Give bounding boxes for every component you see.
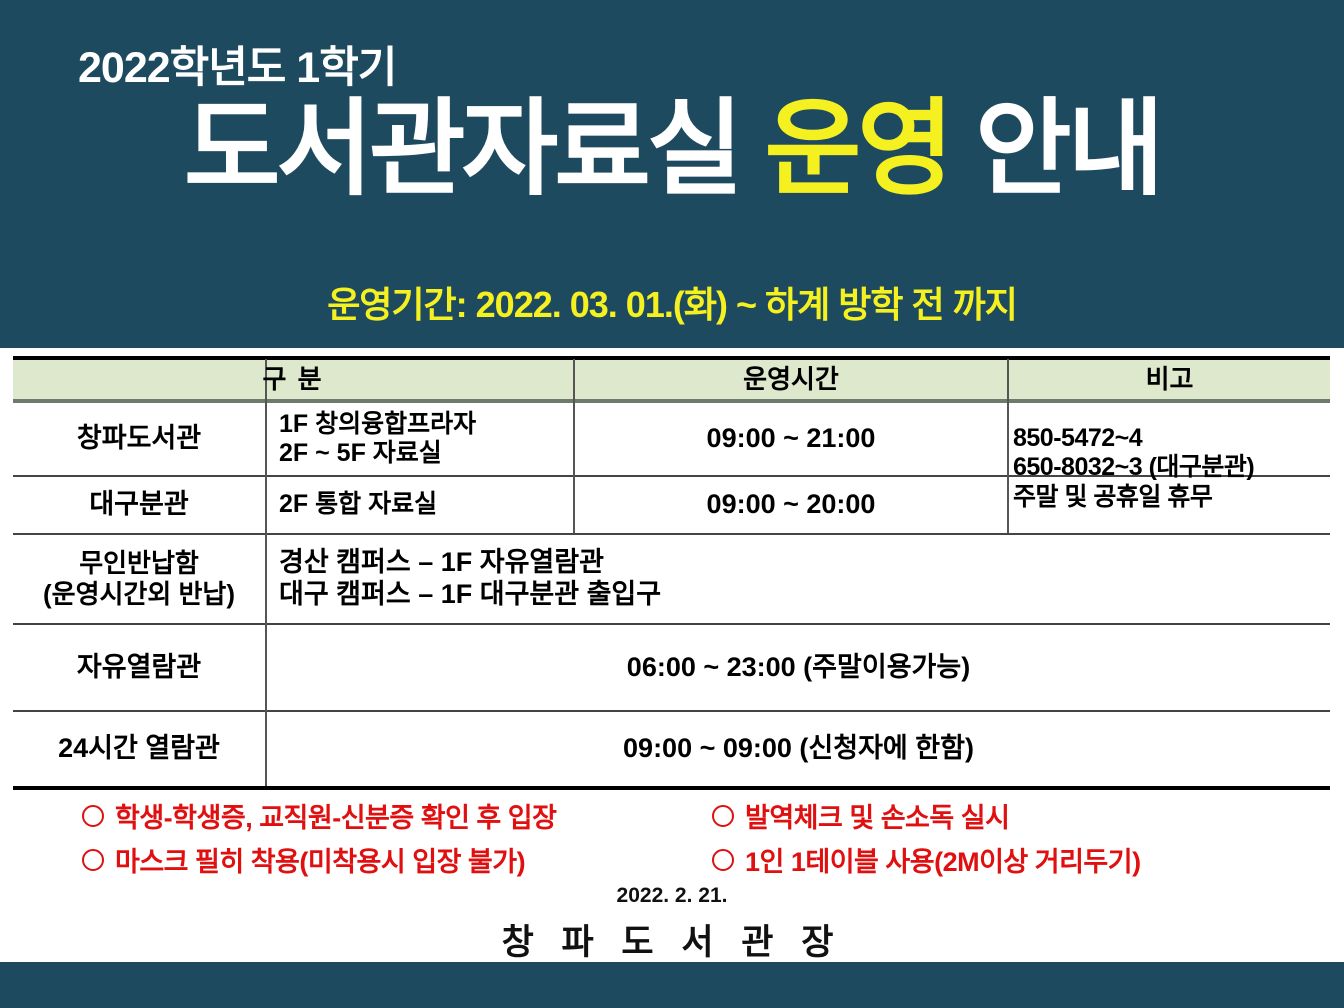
circle-outline-icon [712, 805, 734, 827]
semester-label: 2022학년도 1학기 [78, 33, 396, 95]
poster-page: 2022학년도 1학기 도서관자료실 운영 안내 운영기간: 2022. 03.… [0, 0, 1344, 1008]
col-header-hours: 운영시간 [575, 359, 1007, 399]
header-banner: 2022학년도 1학기 도서관자료실 운영 안내 운영기간: 2022. 03.… [0, 0, 1344, 348]
row-5-name: 24시간 열람관 [13, 712, 265, 786]
circle-outline-icon [82, 805, 104, 827]
notice-right-2: 1인 1테이블 사용(2M이상 거리두기) [712, 840, 1141, 879]
row-2-hours: 09:00 ~ 20:00 [575, 477, 1007, 533]
circle-outline-icon [712, 849, 734, 871]
title-part-1: 도서관자료실 [184, 91, 765, 208]
row-1-name: 창파도서관 [13, 403, 265, 475]
covid-notices: 학생-학생증, 교직원-신분증 확인 후 입장 마스크 필히 착용(미착용시 입… [0, 796, 1344, 886]
row-3-name: 무인반납함 (운영시간외 반납) [13, 535, 265, 623]
notice-left-2: 마스크 필히 착용(미착용시 입장 불가) [82, 840, 525, 879]
notice-right-1: 발역체크 및 손소독 실시 [712, 796, 1009, 835]
row-2-detail: 2F 통합 자료실 [279, 477, 573, 533]
notice-right-2-text: 1인 1테이블 사용(2M이상 거리두기) [745, 840, 1141, 879]
row-3-detail: 경산 캠퍼스 – 1F 자유열람관 대구 캠퍼스 – 1F 대구분관 출입구 [279, 535, 1330, 623]
signature-line: 창 파 도 서 관 장 [0, 914, 1344, 965]
operating-period: 운영기간: 2022. 03. 01.(화) ~ 하계 방학 전 까지 [0, 276, 1344, 328]
row-4-name: 자유열람관 [13, 625, 265, 710]
rule-bottom [13, 786, 1330, 790]
circle-outline-icon [82, 849, 104, 871]
col-header-category: 구 분 [13, 359, 573, 399]
row-4-hours: 06:00 ~ 23:00 (주말이용가능) [267, 625, 1330, 710]
row-1-hours: 09:00 ~ 21:00 [575, 403, 1007, 475]
title-highlight: 운영 [765, 91, 950, 208]
notice-left-1-text: 학생-학생증, 교직원-신분증 확인 후 입장 [115, 796, 556, 835]
row-1-2-remarks: 850-5472~4 650-8032~3 (대구분관) 주말 및 공휴일 휴무 [1013, 403, 1330, 533]
notice-right-1-text: 발역체크 및 손소독 실시 [745, 796, 1009, 835]
row-5-hours: 09:00 ~ 09:00 (신청자에 한함) [267, 712, 1330, 786]
issue-date: 2022. 2. 21. [0, 884, 1344, 908]
page-title: 도서관자료실 운영 안내 [0, 97, 1344, 202]
footer-bar [0, 962, 1344, 1008]
row-2-name: 대구분관 [13, 477, 265, 533]
schedule-table: 구 분 운영시간 비고 창파도서관 1F 창의융합프라자 2F ~ 5F 자료실… [13, 356, 1330, 790]
title-part-2: 안내 [950, 91, 1160, 208]
row-1-detail: 1F 창의융합프라자 2F ~ 5F 자료실 [279, 403, 573, 475]
notice-left-1: 학생-학생증, 교직원-신분증 확인 후 입장 [82, 796, 556, 835]
notice-left-2-text: 마스크 필히 착용(미착용시 입장 불가) [115, 840, 525, 879]
col-header-remarks: 비고 [1009, 359, 1330, 399]
